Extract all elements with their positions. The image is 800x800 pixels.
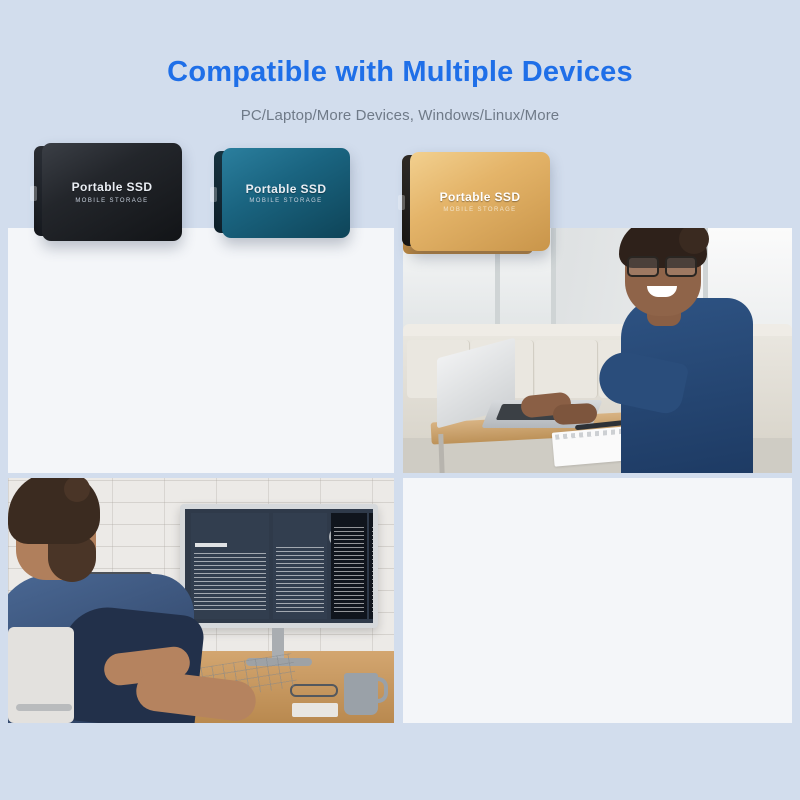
ssd-body-teal: Portable SSD MOBILE STORAGE — [222, 148, 350, 238]
portable-ssd-teal: Portable SSD MOBILE STORAGE — [222, 148, 350, 238]
ssd-tagline-label: MOBILE STORAGE — [42, 198, 182, 204]
ssd-tagline-label: MOBILE STORAGE — [410, 207, 550, 213]
ssd-brand-label: Portable SSD — [410, 190, 550, 204]
os-panel: Windows — [403, 478, 792, 723]
page-subtitle: PC/Laptop/More Devices, Windows/Linux/Mo… — [0, 107, 800, 124]
usb-port-icon — [398, 195, 405, 210]
ssd-tagline-label: MOBILE STORAGE — [222, 198, 350, 204]
page-title: Compatible with Multiple Devices — [0, 56, 800, 89]
portable-ssd-gold: Portable SSD MOBILE STORAGE — [410, 152, 550, 251]
man-using-desktop-photo — [8, 478, 394, 723]
ssd-brand-label: Portable SSD — [42, 180, 182, 194]
ssd-brand-label: Portable SSD — [222, 182, 350, 196]
portable-ssd-black: Portable SSD MOBILE STORAGE — [42, 143, 182, 241]
ssd-body-black: Portable SSD MOBILE STORAGE — [42, 143, 182, 241]
devices-panel: PC Laptop — [8, 228, 394, 473]
woman-using-laptop-photo — [403, 228, 792, 473]
product-infographic: Compatible with Multiple Devices PC/Lapt… — [0, 0, 800, 800]
usb-port-icon — [30, 186, 37, 201]
ssd-body-gold: Portable SSD MOBILE STORAGE — [410, 152, 550, 251]
usb-port-icon — [210, 187, 217, 202]
